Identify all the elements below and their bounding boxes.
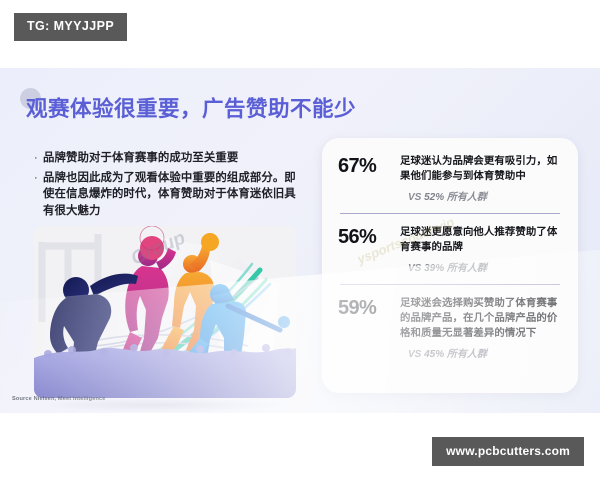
sports-illustration-svg [34,226,296,398]
list-item: · 品牌赞助对于体育赛事的成功至关重要 [34,150,306,167]
page-title: 观赛体验很重要，广告赞助不能少 [26,95,356,129]
stat-vs-prefix: VS [408,349,421,360]
stat-vs-prefix: VS [408,263,421,274]
stat-description: 足球迷认为品牌会更有吸引力，如果他们能参与到体育赞助中 [400,154,562,184]
stat-vs-prefix: VS [408,192,421,203]
stat-comparison: VS 45% 所有人群 [408,348,562,361]
stat-body: 足球迷认为品牌会更有吸引力，如果他们能参与到体育赞助中 VS 52% 所有人群 [400,154,562,204]
stat-percent: 59% [338,296,400,318]
stat-description: 足球迷会选择购买赞助了体育赛事的品牌产品，在几个品牌产品的价格和质量无显著差异的… [400,296,562,341]
stat-description: 足球迷更愿意向他人推荐赞助了体育赛事的品牌 [400,225,562,255]
bullet-list: · 品牌赞助对于体育赛事的成功至关重要 · 品牌也因此成为了观看体验中重要的组成… [34,150,306,222]
stat-comparison: VS 39% 所有人群 [408,262,562,275]
stat-body: 足球迷会选择购买赞助了体育赛事的品牌产品，在几个品牌产品的价格和质量无显著差异的… [400,296,562,361]
page-title-text: 观赛体验很重要，广告赞助不能少 [26,95,356,123]
stat-comparison: VS 52% 所有人群 [408,191,562,204]
source-note: Source Nielsen, Meet Intelligence [12,396,106,402]
tg-handle-badge: TG: MYYJJPP [14,13,127,41]
stat-percent: 56% [338,225,400,247]
stat-percent: 67% [338,154,400,176]
list-item: · 品牌也因此成为了观看体验中重要的组成部分。即使在信息爆炸的时代，体育赞助对于… [34,170,306,220]
list-item-text: 品牌也因此成为了观看体验中重要的组成部分。即使在信息爆炸的时代，体育赞助对于体育… [43,170,306,220]
stat-row: 56% 足球迷更愿意向他人推荐赞助了体育赛事的品牌 VS 39% 所有人群 [322,214,578,275]
stat-vs-percent: 45% [424,349,444,360]
stat-vs-group: 所有人群 [447,263,487,274]
bullet-marker-icon: · [34,150,43,166]
stat-row: 59% 足球迷会选择购买赞助了体育赛事的品牌产品，在几个品牌产品的价格和质量无显… [322,285,578,361]
stat-row: 67% 足球迷认为品牌会更有吸引力，如果他们能参与到体育赞助中 VS 52% 所… [322,138,578,204]
slide-canvas: 观赛体验很重要，广告赞助不能少 · 品牌赞助对于体育赛事的成功至关重要 · 品牌… [0,68,600,413]
stats-card: 67% 足球迷认为品牌会更有吸引力，如果他们能参与到体育赞助中 VS 52% 所… [322,138,578,393]
stat-body: 足球迷更愿意向他人推荐赞助了体育赛事的品牌 VS 39% 所有人群 [400,225,562,275]
stat-vs-group: 所有人群 [447,349,487,360]
sports-illustration: Group [34,226,296,398]
site-watermark-badge: www.pcbcutters.com [432,437,584,466]
stat-vs-percent: 39% [424,263,444,274]
bullet-marker-icon: · [34,170,43,186]
stat-vs-percent: 52% [424,192,444,203]
list-item-text: 品牌赞助对于体育赛事的成功至关重要 [43,150,306,167]
stat-vs-group: 所有人群 [447,192,487,203]
